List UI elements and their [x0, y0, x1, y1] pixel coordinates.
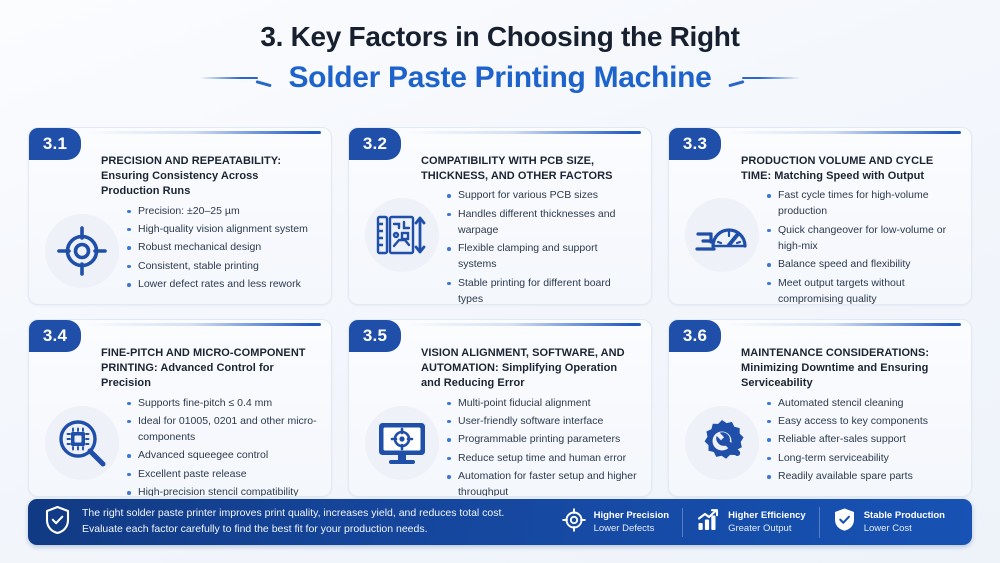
- banner-text-line1: The right solder paste printer improves …: [82, 506, 504, 522]
- banner-stat-precision: Higher Precision Lower Defects: [549, 508, 683, 537]
- list-item: Quick changeover for low-volume or high-…: [765, 223, 957, 255]
- magnifier-chip-icon: [39, 398, 125, 488]
- stat-line2: Greater Output: [728, 522, 806, 535]
- list-item: Precision: ±20–25 µm: [125, 204, 308, 220]
- list-item: Reduce setup time and human error: [445, 451, 637, 467]
- banner-stat-stability: Stable Production Lower Cost: [819, 507, 958, 538]
- shield-check-icon: [44, 505, 71, 540]
- card-title-caps: MAINTENANCE CONSIDERATIONS:: [741, 347, 929, 359]
- card-accent-line: [85, 323, 321, 326]
- list-item: High-quality vision alignment system: [125, 222, 308, 238]
- card-bullet-list: Precision: ±20–25 µm High-quality vision…: [125, 204, 310, 296]
- target-icon: [562, 508, 586, 537]
- page-title-line2: Solder Paste Printing Machine: [288, 60, 711, 96]
- list-item: Robust mechanical design: [125, 240, 308, 256]
- list-item: Handles different thicknesses and warpag…: [445, 207, 637, 239]
- list-item: User-friendly software interface: [445, 414, 637, 430]
- stat-line2: Lower Cost: [864, 522, 945, 535]
- banner-stat-label: Higher Precision Lower Defects: [594, 509, 670, 535]
- monitor-crosshair-icon: [359, 398, 445, 488]
- list-item: Flexible clamping and support systems: [445, 241, 637, 273]
- dash-line-right-icon: [728, 71, 800, 85]
- list-item: Consistent, stable printing: [125, 259, 308, 275]
- list-item: High-precision stencil compatibility: [125, 485, 317, 497]
- factor-card-grid: 3.1 PRECISION AND REPEATABILITY: Ensurin…: [28, 127, 972, 497]
- card-accent-line: [725, 131, 961, 134]
- card-title: FINE-PITCH AND MICRO-COMPONENT PRINTING:…: [101, 346, 317, 392]
- card-title: COMPATIBILITY WITH PCB SIZE, THICKNESS, …: [421, 154, 637, 184]
- list-item: Automation for faster setup and higher t…: [445, 469, 637, 497]
- list-item: Supports fine-pitch ≤ 0.4 mm: [125, 396, 317, 412]
- banner-message: The right solder paste printer improves …: [44, 505, 504, 540]
- dash-line-left-icon: [200, 71, 272, 85]
- card-title: VISION ALIGNMENT, SOFTWARE, AND AUTOMATI…: [421, 346, 637, 392]
- factor-card-3-6[interactable]: 3.6 MAINTENANCE CONSIDERATIONS: Minimizi…: [668, 319, 972, 497]
- card-title-caps: PRECISION AND REPEATABILITY:: [101, 155, 281, 167]
- pcb-board-measure-icon: [359, 190, 445, 280]
- card-number-badge: 3.4: [29, 320, 81, 352]
- list-item: Automated stencil cleaning: [765, 396, 928, 412]
- card-number-badge: 3.1: [29, 128, 81, 160]
- banner-stat-efficiency: Higher Efficiency Greater Output: [682, 508, 819, 537]
- list-item: Fast cycle times for high-volume product…: [765, 188, 957, 220]
- list-item: Multi-point fiducial alignment: [445, 396, 637, 412]
- list-item: Meet output targets without compromising…: [765, 276, 957, 305]
- page-header: 3. Key Factors in Choosing the Right Sol…: [0, 0, 1000, 96]
- stat-line1: Higher Efficiency: [728, 509, 806, 522]
- list-item: Reliable after-sales support: [765, 432, 928, 448]
- list-item: Programmable printing parameters: [445, 432, 637, 448]
- card-title-caps: COMPATIBILITY WITH PCB SIZE, THICKNESS, …: [421, 155, 612, 182]
- summary-banner: The right solder paste printer improves …: [28, 499, 972, 545]
- card-bullet-list: Automated stencil cleaning Easy access t…: [765, 396, 930, 488]
- bar-chart-up-icon: [696, 508, 720, 537]
- card-number-badge: 3.5: [349, 320, 401, 352]
- list-item: Balance speed and flexibility: [765, 257, 957, 273]
- banner-text: The right solder paste printer improves …: [82, 506, 504, 537]
- list-item: Long-term serviceability: [765, 451, 928, 467]
- banner-stat-label: Higher Efficiency Greater Output: [728, 509, 806, 535]
- card-bullet-list: Fast cycle times for high-volume product…: [765, 188, 959, 305]
- stat-line2: Lower Defects: [594, 522, 670, 535]
- card-number-badge: 3.3: [669, 128, 721, 160]
- gear-wrench-icon: [679, 398, 765, 488]
- card-accent-line: [405, 323, 641, 326]
- list-item: Excellent paste release: [125, 467, 317, 483]
- banner-stats: Higher Precision Lower Defects Higher Ef…: [549, 507, 958, 538]
- stat-line1: Stable Production: [864, 509, 945, 522]
- card-bullet-list: Supports fine-pitch ≤ 0.4 mm Ideal for 0…: [125, 396, 319, 497]
- list-item: Lower defect rates and less rework: [125, 277, 308, 293]
- page-title-line1: 3. Key Factors in Choosing the Right: [0, 20, 1000, 54]
- list-item: Easy access to key components: [765, 414, 928, 430]
- list-item: Advanced squeegee control: [125, 448, 317, 464]
- card-accent-line: [85, 131, 321, 134]
- card-title-rest: Matching Speed with Output: [774, 170, 924, 182]
- page-title-row: Solder Paste Printing Machine: [0, 60, 1000, 96]
- card-title: PRODUCTION VOLUME AND CYCLE TIME: Matchi…: [741, 154, 957, 184]
- card-title-rest: Minimizing Downtime and Ensuring Service…: [741, 362, 928, 389]
- list-item: Support for various PCB sizes: [445, 188, 637, 204]
- factor-card-3-1[interactable]: 3.1 PRECISION AND REPEATABILITY: Ensurin…: [28, 127, 332, 305]
- card-number-badge: 3.2: [349, 128, 401, 160]
- card-accent-line: [405, 131, 641, 134]
- factor-card-3-4[interactable]: 3.4 FINE-PITCH AND MICRO-COMPONENT PRINT…: [28, 319, 332, 497]
- card-title: PRECISION AND REPEATABILITY: Ensuring Co…: [101, 154, 317, 200]
- card-title-rest: Ensuring Consistency Across Production R…: [101, 170, 258, 197]
- card-title: MAINTENANCE CONSIDERATIONS: Minimizing D…: [741, 346, 957, 392]
- card-number-badge: 3.6: [669, 320, 721, 352]
- crosshair-target-icon: [39, 206, 125, 296]
- list-item: Ideal for 01005, 0201 and other micro-co…: [125, 414, 317, 446]
- card-accent-line: [725, 323, 961, 326]
- stat-line1: Higher Precision: [594, 509, 670, 522]
- shield-check-icon: [833, 507, 856, 538]
- speedometer-gauge-icon: [679, 190, 765, 280]
- factor-card-3-2[interactable]: 3.2 COMPATIBILITY WITH PCB SIZE, THICKNE…: [348, 127, 652, 305]
- card-bullet-list: Support for various PCB sizes Handles di…: [445, 188, 639, 305]
- banner-stat-label: Stable Production Lower Cost: [864, 509, 945, 535]
- factor-card-3-5[interactable]: 3.5 VISION ALIGNMENT, SOFTWARE, AND AUTO…: [348, 319, 652, 497]
- list-item: Readily available spare parts: [765, 469, 928, 485]
- banner-text-line2: Evaluate each factor carefully to find t…: [82, 522, 504, 538]
- card-bullet-list: Multi-point fiducial alignment User-frie…: [445, 396, 639, 497]
- factor-card-3-3[interactable]: 3.3 PRODUCTION VOLUME AND CYCLE TIME: Ma…: [668, 127, 972, 305]
- list-item: Stable printing for different board type…: [445, 276, 637, 305]
